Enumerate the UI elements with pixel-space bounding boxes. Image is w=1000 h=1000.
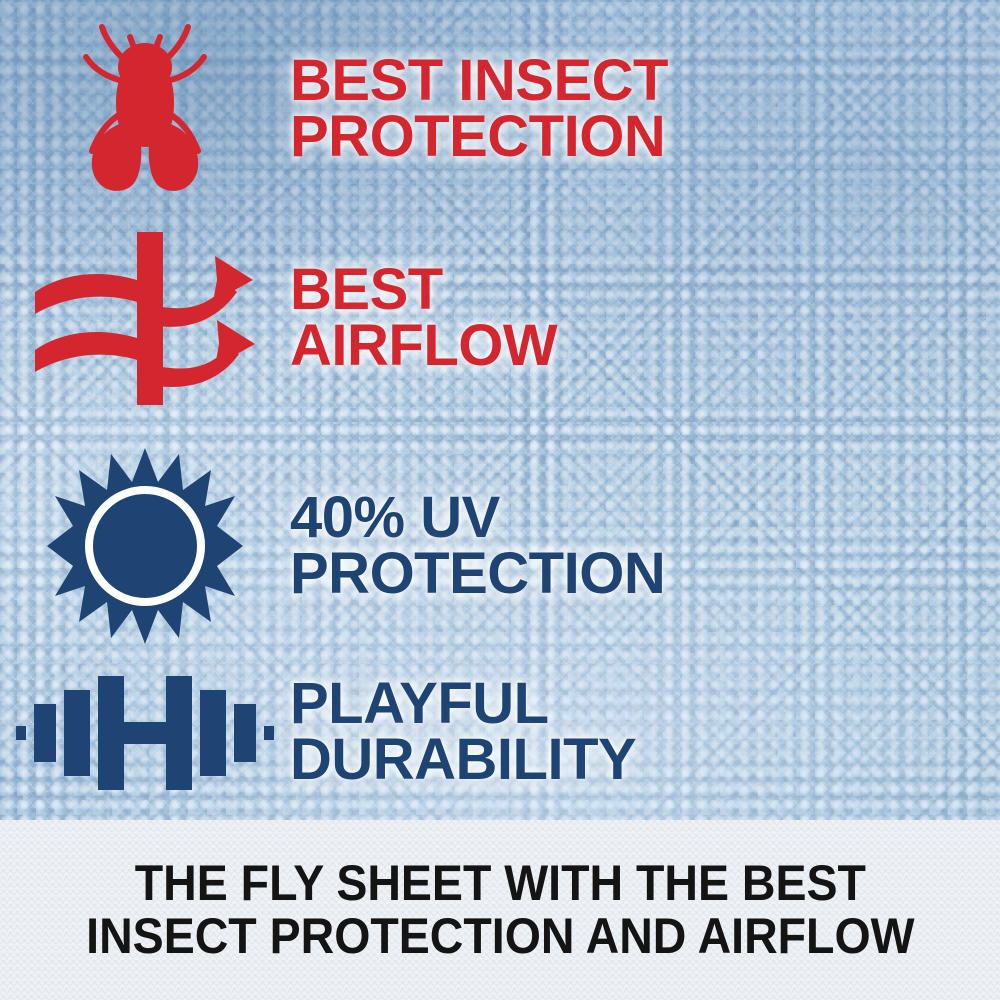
fly-icon xyxy=(70,17,220,202)
caption-headline: THE FLY SHEET WITH THE BEST INSECT PROTE… xyxy=(69,857,931,963)
caption-bar: THE FLY SHEET WITH THE BEST INSECT PROTE… xyxy=(0,820,1000,1000)
feature-row-insect-protection: BEST INSECT PROTECTION xyxy=(0,14,1000,204)
infographic-poster: BEST INSECT PROTECTION BEST AIRFLOW xyxy=(0,0,1000,1000)
feature-text-cell: BEST INSECT PROTECTION xyxy=(290,53,668,164)
feature-text-cell: PLAYFUL DURABILITY xyxy=(290,676,636,787)
feature-icon-cell xyxy=(0,17,290,202)
feature-icon-cell xyxy=(0,226,290,411)
feature-label-airflow: BEST AIRFLOW xyxy=(290,262,557,373)
feature-icon-cell xyxy=(0,446,290,646)
feature-text-cell: 40% UV PROTECTION xyxy=(290,490,665,601)
feature-label-durability: PLAYFUL DURABILITY xyxy=(290,676,636,787)
dumbbell-icon xyxy=(14,668,276,796)
feature-row-airflow: BEST AIRFLOW xyxy=(0,218,1000,418)
feature-label-insect-protection: BEST INSECT PROTECTION xyxy=(290,53,668,164)
feature-row-uv-protection: 40% UV PROTECTION xyxy=(0,440,1000,652)
airflow-arrows-icon xyxy=(27,226,263,411)
feature-row-durability: PLAYFUL DURABILITY xyxy=(0,652,1000,812)
sun-icon xyxy=(45,446,245,646)
feature-icon-cell xyxy=(0,668,290,796)
feature-text-cell: BEST AIRFLOW xyxy=(290,262,557,373)
feature-label-uv-protection: 40% UV PROTECTION xyxy=(290,490,665,601)
